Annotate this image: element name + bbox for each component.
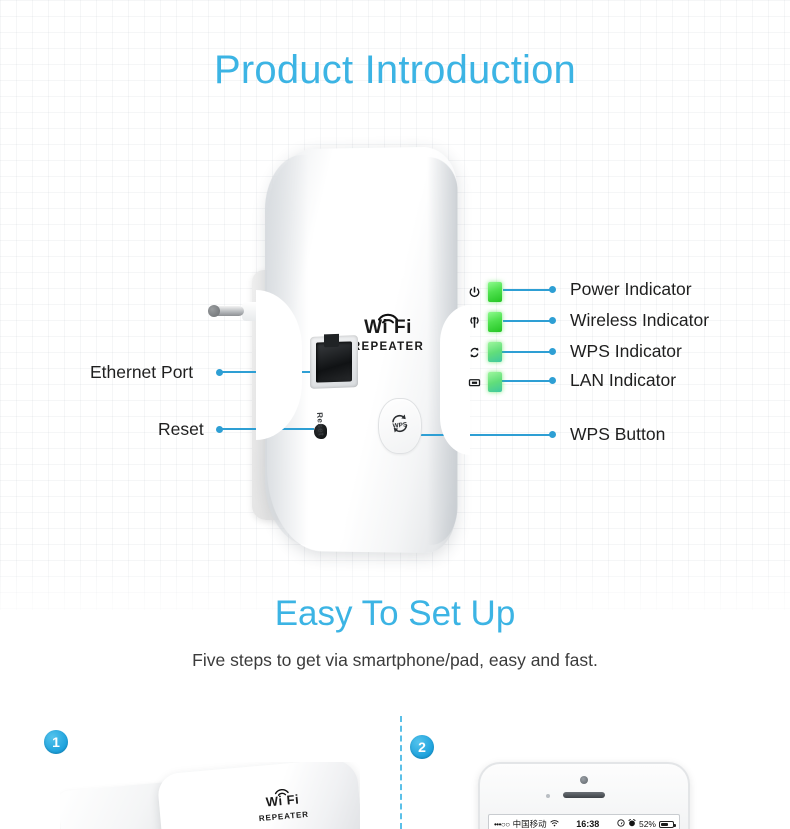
device-waist-right <box>440 305 470 455</box>
led-lamp-wireless <box>488 312 502 332</box>
callout-line-lan <box>500 380 551 382</box>
step-badge-1: 1 <box>44 730 68 754</box>
location-icon <box>617 819 625 829</box>
callout-dot-power <box>549 286 556 293</box>
wifi-arc-icon <box>377 309 399 328</box>
callout-line-wireless <box>503 320 551 322</box>
battery-percent-label: 52% <box>639 819 656 829</box>
wifi-arc-icon-small <box>273 784 290 798</box>
callout-label-wps-button: WPS Button <box>570 424 665 445</box>
reset-silkscreen-label: Reset <box>315 412 326 436</box>
led-lamp-wps <box>488 342 502 362</box>
front-camera-icon <box>580 776 588 784</box>
callout-label-wireless-indicator: Wireless Indicator <box>570 310 709 331</box>
ethernet-port-icon <box>310 335 358 389</box>
callout-label-wps-indicator: WPS Indicator <box>570 341 682 362</box>
wps-button-icon: WPS <box>378 398 422 454</box>
callout-label-reset: Reset <box>158 419 204 440</box>
alarm-icon <box>628 819 636 829</box>
section-title-easy-to-set-up: Easy To Set Up <box>0 594 790 634</box>
led-lamp-lan <box>488 372 502 392</box>
led-lamp-power <box>488 282 502 302</box>
status-bar-time: 16:38 <box>576 819 599 829</box>
steps-divider <box>400 716 402 829</box>
step-badge-2: 2 <box>410 735 434 759</box>
battery-icon <box>659 821 674 828</box>
page-title: Product Introduction <box>0 48 790 93</box>
callout-dot-lan <box>549 377 556 384</box>
wps-icon <box>468 346 482 360</box>
phone-screen: •••○○ 中国移动 16:38 <box>488 814 680 829</box>
callout-line-power <box>503 289 551 291</box>
callout-dot-wps <box>549 348 556 355</box>
lan-icon <box>468 376 482 390</box>
step-2-smartphone-photo: •••○○ 中国移动 16:38 <box>478 762 690 829</box>
callout-label-ethernet-port: Ethernet Port <box>90 362 193 383</box>
callout-line-wps-button <box>410 434 551 436</box>
carrier-label: 中国移动 <box>513 818 547 829</box>
earpiece-speaker <box>563 792 605 798</box>
proximity-sensor-icon <box>546 794 550 798</box>
section-subtitle: Five steps to get via smartphone/pad, ea… <box>0 650 790 671</box>
callout-label-power-indicator: Power Indicator <box>570 279 692 300</box>
callout-line-wps <box>500 351 551 353</box>
wireless-icon <box>468 316 482 330</box>
power-icon <box>468 286 482 300</box>
step-1-product-photo: Wi Fi REPEATER <box>60 762 360 829</box>
signal-strength-icon: •••○○ <box>494 820 510 829</box>
callout-dot-wireless <box>549 317 556 324</box>
callout-dot-wps-button <box>549 431 556 438</box>
callout-label-lan-indicator: LAN Indicator <box>570 370 676 391</box>
wifi-icon <box>550 819 559 829</box>
device-illustration: Wi Fi REPEATER Reset WPS <box>196 140 556 560</box>
phone-status-bar: •••○○ 中国移动 16:38 <box>489 815 679 829</box>
